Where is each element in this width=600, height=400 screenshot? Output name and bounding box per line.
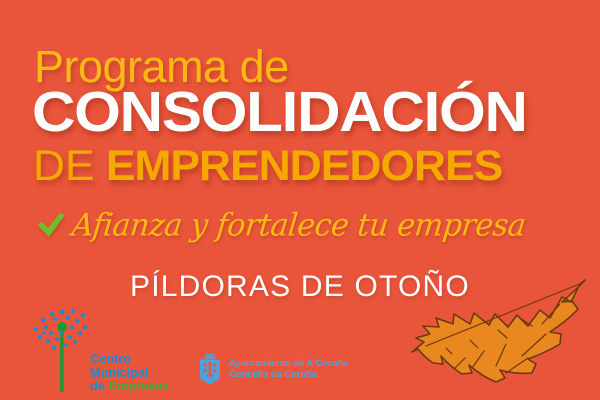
coruna-coat-of-arms-icon — [197, 353, 223, 385]
cme-wordmark: Centro Municipal de Empresas — [90, 352, 169, 393]
logo-ayuntamiento-a-coruna: Ayuntamiento de A Coruña Concello da Cor… — [197, 352, 348, 386]
cme-word-de: de — [90, 378, 105, 393]
cme-word-empresas: Empresas — [108, 378, 169, 393]
poster-canvas: Programa de CONSOLIDACIÓN DEEMPRENDEDORE… — [0, 0, 600, 400]
logo-centro-municipal-de-empresas: Centro Municipal de Empresas — [32, 308, 162, 392]
ayto-line-gl: Concello da Coruña — [229, 369, 348, 380]
tagline-row: Afianza y fortalece tu empresa — [34, 202, 525, 248]
tagline-text: Afianza y fortalece tu empresa — [70, 207, 527, 243]
dandelion-icon — [32, 308, 94, 392]
headline-word-emprendedores: EMPRENDEDORES — [106, 142, 502, 190]
headline-word-de: DE — [33, 142, 95, 190]
headline-line-de-emprendedores: DEEMPRENDEDORES — [33, 145, 502, 188]
cme-line-municipal: Municipal — [90, 366, 169, 380]
headline-line-consolidacion: CONSOLIDACIÓN — [32, 84, 527, 141]
ayto-line-es: Ayuntamiento de A Coruña — [229, 358, 348, 369]
cme-line-de-empresas: de Empresas — [90, 379, 169, 393]
cme-line-centro: Centro — [90, 352, 169, 366]
ayto-wordmark: Ayuntamiento de A Coruña Concello da Cor… — [229, 358, 348, 380]
autumn-oak-leaf-icon — [410, 278, 600, 396]
check-icon — [34, 208, 68, 242]
